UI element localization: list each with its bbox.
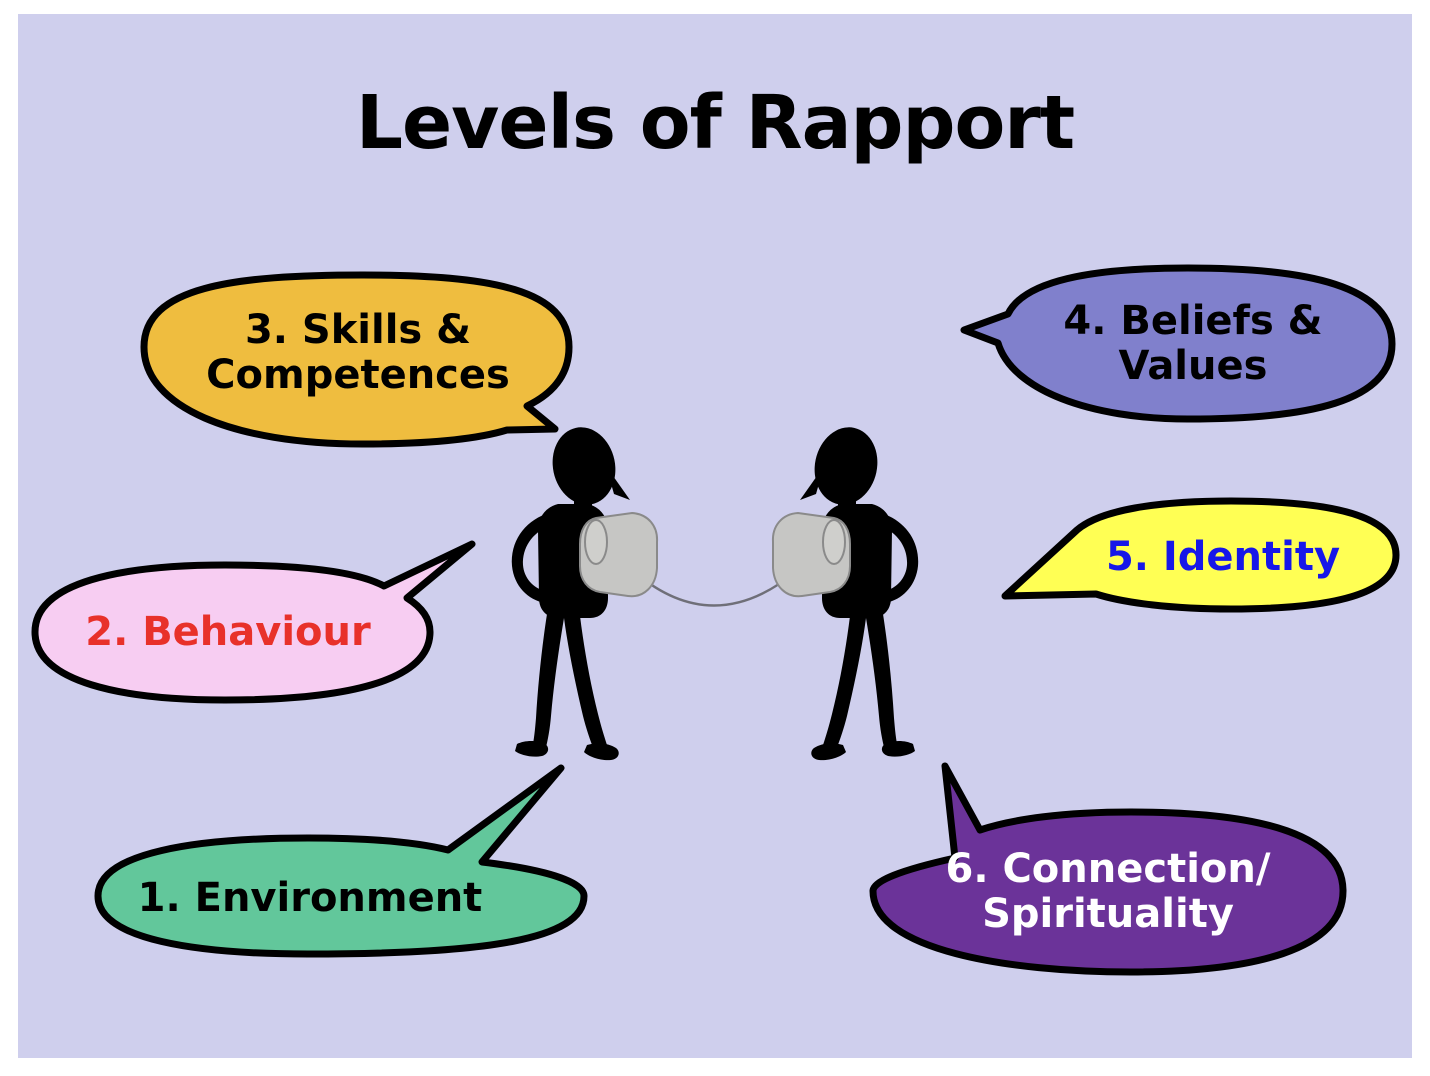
bubble-skills-competences-shape[interactable] bbox=[144, 275, 569, 444]
diagram-graphics bbox=[18, 14, 1412, 1058]
bubble-connection-spirituality-shape[interactable] bbox=[873, 766, 1343, 972]
diagram-panel: Levels of Rapport bbox=[18, 14, 1412, 1058]
diagram-canvas: Levels of Rapport bbox=[0, 0, 1430, 1076]
right-person bbox=[773, 421, 918, 760]
bubble-behaviour-shape[interactable] bbox=[35, 544, 472, 700]
left-person bbox=[512, 421, 657, 760]
bubble-beliefs-values-shape[interactable] bbox=[964, 268, 1392, 419]
bubble-identity-shape[interactable] bbox=[1005, 501, 1396, 609]
bubble-environment-shape[interactable] bbox=[98, 768, 584, 954]
